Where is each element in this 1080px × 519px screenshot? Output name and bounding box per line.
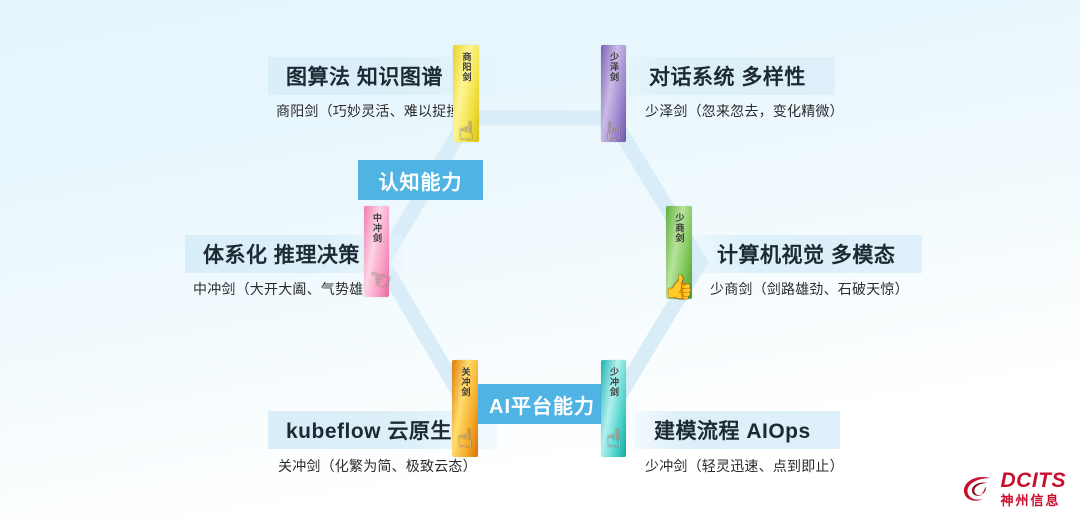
chip-label: 认知能力 [379,166,463,195]
node-subtitle-text: 商阳剑（巧妙灵活、难以捉摸） [276,103,475,119]
sword-bar-zhongchong[interactable]: 中冲剑 ☝ [364,206,389,297]
sword-label-shaoze: 少泽剑 [608,52,619,82]
node-title-text: 图算法 知识图谱 [286,61,443,91]
node-subtitle-dialog-system: 少泽剑（忽来忽去，变化精微） [645,101,844,121]
node-subtitle-reasoning-decision: 中冲剑（大开大阖、气势雄迈） [193,279,392,299]
node-title-text: 体系化 推理决策 [203,239,360,269]
node-subtitle-text: 少冲剑（轻灵迅速、点到即止） [645,458,844,474]
sword-bar-shangyang[interactable]: 商阳剑 ☝ [453,45,479,142]
logo-sub-text: 神州信息 [1001,494,1067,507]
node-subtitle-kubeflow: 关冲剑（化繁为简、极致云态） [278,456,477,476]
sword-bar-shaoze[interactable]: 少泽剑 ☝ [601,45,626,142]
node-title-computer-vision: 计算机视觉 多模态 [697,235,922,273]
node-subtitle-text: 少商剑（剑路雄劲、石破天惊） [710,281,909,297]
thumbs-up-hand-icon: 👍 [664,275,694,301]
node-subtitle-modeling-aiops: 少冲剑（轻灵迅速、点到即止） [645,456,844,476]
sword-bar-guanchong[interactable]: 关冲剑 ☝ [452,360,478,457]
chip-label: AI平台能力 [489,390,595,419]
dcits-swoosh-icon [961,472,995,506]
pointing-up-hand-icon: ☝ [458,118,474,144]
sword-bar-shaochong[interactable]: 少冲剑 ☝ [601,360,626,457]
sword-bar-shaoshang[interactable]: 少商剑 👍 [666,206,692,299]
sword-label-guanchong: 关冲剑 [460,367,471,397]
node-subtitle-text: 少泽剑（忽来忽去，变化精微） [645,103,844,119]
node-title-text: 对话系统 多样性 [649,61,806,91]
pointing-left-hand-icon: ☝ [606,118,622,144]
sword-label-zhongchong: 中冲剑 [371,213,382,243]
chip-cognitive-capability[interactable]: 认知能力 [358,160,483,200]
node-subtitle-text: 中冲剑（大开大阖、气势雄迈） [193,281,392,297]
node-title-text: kubeflow 云原生 [286,415,452,445]
pointing-up-hand-icon: ☝ [457,425,473,451]
node-title-modeling-aiops: 建模流程 AIOps [634,411,840,449]
sword-label-shaoshang: 少商剑 [674,213,685,243]
pointing-up-hand-icon: ☝ [606,425,622,451]
sword-label-shangyang: 商阳剑 [461,52,472,82]
chip-ai-platform-capability[interactable]: AI平台能力 [478,384,606,424]
node-subtitle-knowledge-graph: 商阳剑（巧妙灵活、难以捉摸） [276,101,475,121]
sword-label-shaochong: 少冲剑 [608,367,619,397]
infographic-canvas: 图算法 知识图谱 商阳剑（巧妙灵活、难以捉摸） 商阳剑 ☝ 少泽剑 ☝ 对话系统… [0,0,1080,519]
company-logo: DCITS 神州信息 [961,470,1067,507]
node-title-dialog-system: 对话系统 多样性 [629,57,835,95]
logo-main-text: DCITS [1001,470,1067,491]
node-title-text: 建模流程 AIOps [654,415,811,445]
node-subtitle-text: 关冲剑（化繁为简、极致云态） [278,458,477,474]
node-title-text: 计算机视觉 多模态 [717,239,895,269]
node-subtitle-computer-vision: 少商剑（剑路雄劲、石破天惊） [710,279,909,299]
